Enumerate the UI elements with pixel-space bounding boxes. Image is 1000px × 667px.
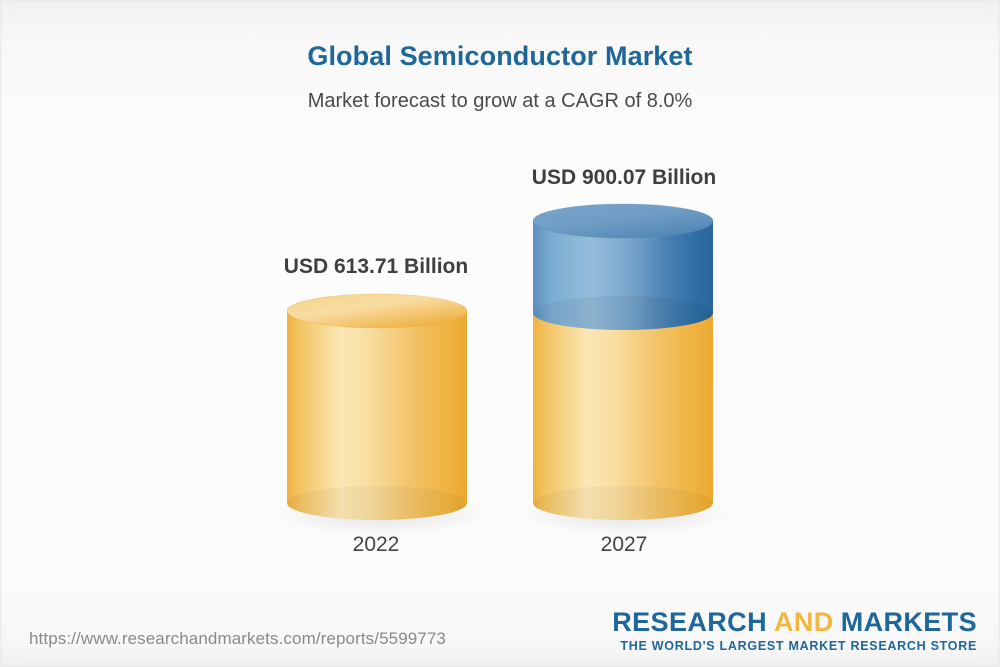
footer: https://www.researchandmarkets.com/repor…	[1, 606, 999, 666]
logo-word-and: AND	[774, 607, 834, 637]
plot-area: USD 613.71 Billion USD 900.07 Billion 20…	[1, 1, 1000, 601]
chart-canvas: Global Semiconductor Market Market forec…	[0, 0, 1000, 667]
bar-value-label-2027: USD 900.07 Billion	[424, 166, 824, 190]
bar-value-label-2022: USD 613.71 Billion	[176, 255, 576, 279]
logo-wordmark: RESEARCHANDMARKETS	[612, 608, 977, 636]
research-and-markets-logo[interactable]: RESEARCHANDMARKETS THE WORLD'S LARGEST M…	[612, 608, 977, 653]
bar-2027-cylinder	[533, 203, 715, 521]
category-label-2027: 2027	[424, 533, 824, 557]
bar-2022-cylinder	[287, 293, 467, 521]
logo-word-research: RESEARCH	[612, 607, 767, 637]
logo-tagline: THE WORLD'S LARGEST MARKET RESEARCH STOR…	[612, 639, 977, 653]
logo-word-markets: MARKETS	[841, 607, 977, 637]
source-url[interactable]: https://www.researchandmarkets.com/repor…	[29, 629, 446, 649]
